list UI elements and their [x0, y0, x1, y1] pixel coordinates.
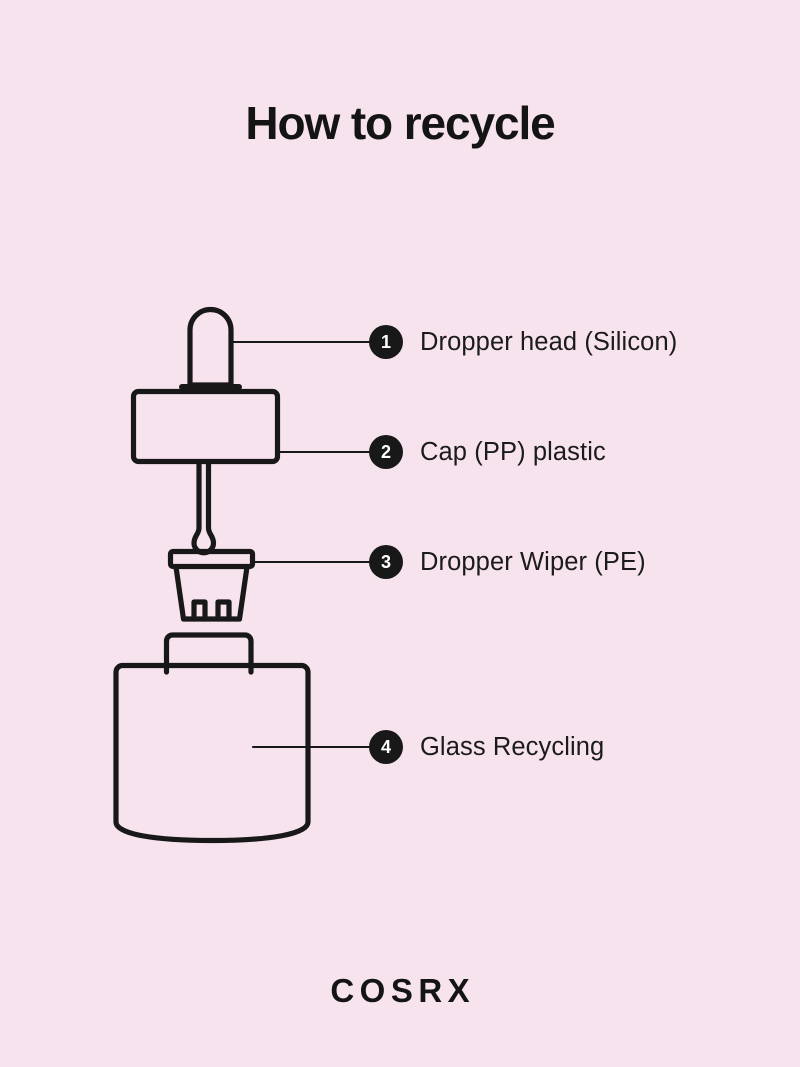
- dropper-head-bulb: [190, 310, 231, 386]
- callout-number-3: 3: [381, 553, 391, 571]
- callout-badge-1: 1: [369, 325, 403, 359]
- wiper-cup: [176, 567, 247, 619]
- brand-wordmark: COSRX: [0, 972, 800, 1010]
- callout-label-3: Dropper Wiper (PE): [420, 548, 646, 577]
- bottle-body: [116, 666, 308, 841]
- callout-number-4: 4: [381, 738, 391, 756]
- dropper-bottle-diagram: [0, 0, 800, 1067]
- wiper-rim: [171, 552, 253, 567]
- callout-label-4: Glass Recycling: [420, 733, 604, 762]
- pipette-tube: [194, 462, 214, 553]
- callout-badge-2: 2: [369, 435, 403, 469]
- callout-number-2: 2: [381, 443, 391, 461]
- callout-number-1: 1: [381, 333, 391, 351]
- cap-body: [134, 392, 278, 462]
- recycling-infographic-poster: How to recycle: [0, 0, 800, 1067]
- callout-label-2: Cap (PP) plastic: [420, 438, 606, 467]
- callout-badge-4: 4: [369, 730, 403, 764]
- callout-badge-3: 3: [369, 545, 403, 579]
- callout-label-1: Dropper head (Silicon): [420, 328, 677, 357]
